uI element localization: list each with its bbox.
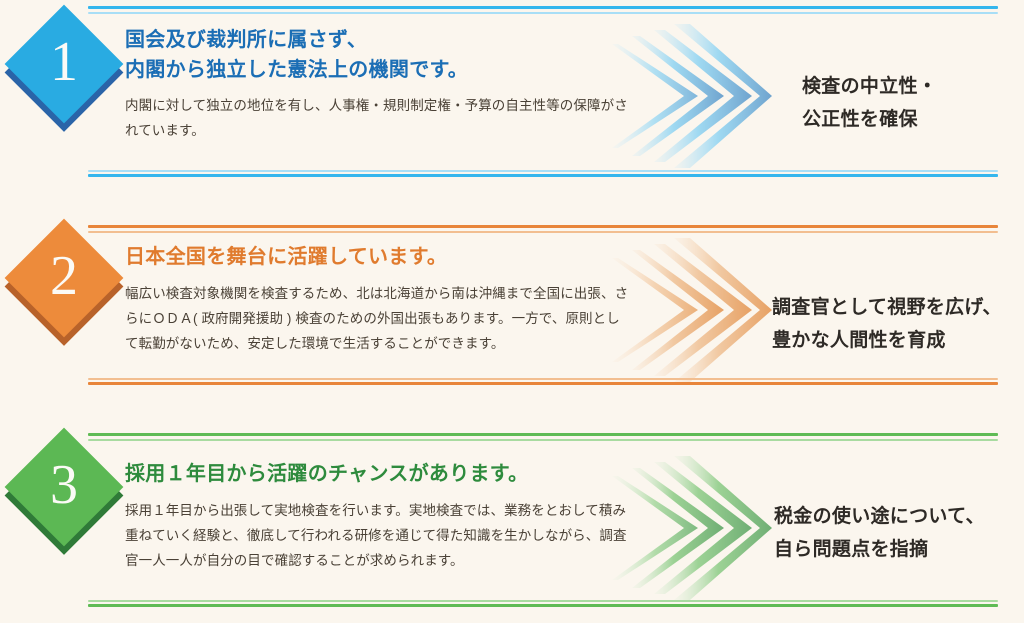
section-3-text-column: 採用１年目から活躍のチャンスがあります。 採用１年目から出張して実地検査を行いま… — [125, 460, 630, 574]
section-2-bottom-rule — [88, 378, 998, 387]
section-3-bottom-rule — [88, 600, 998, 609]
rule-thick-line — [88, 382, 998, 385]
badge-number: 2 — [22, 236, 106, 320]
section-3-body: 採用１年目から出張して実地検査を行います。実地検査では、業務をとおして積み重ねて… — [125, 499, 630, 574]
rule-thick-line — [88, 174, 998, 177]
section-1-body: 内閣に対して独立の地位を有し、人事権・規則制定権・予算の自主性等の保障がされてい… — [125, 94, 630, 144]
rule-thin-line — [88, 170, 998, 172]
rule-thin-line — [88, 231, 998, 233]
section-2-number-badge: 2 — [5, 219, 124, 338]
section-1-top-rule — [88, 6, 998, 15]
rule-thick-line — [88, 225, 998, 228]
section-1-chevron-arrow-group-icon — [612, 16, 772, 176]
section-2-top-rule — [88, 225, 998, 234]
section-1: 1 国会及び裁判所に属さず、 内閣から独立した憲法上の機関です。 内閣に対して独… — [0, 0, 1024, 200]
section-1-headline: 国会及び裁判所に属さず、 内閣から独立した憲法上の機関です。 — [125, 26, 630, 85]
rule-thin-line — [88, 600, 998, 602]
section-3-number-badge: 3 — [5, 428, 124, 547]
rule-thin-line — [88, 378, 998, 380]
badge-number: 1 — [22, 22, 106, 106]
section-2-chevron-arrow-group-icon — [612, 230, 772, 390]
section-3-headline: 採用１年目から活躍のチャンスがあります。 — [125, 460, 630, 490]
section-3-top-rule — [88, 433, 998, 442]
section-1-number-badge: 1 — [5, 5, 124, 124]
section-3-chevron-arrow-group-icon — [612, 448, 772, 608]
section-1-bottom-rule — [88, 170, 998, 179]
section-3-outcome: 税金の使い途について、 自ら問題点を指摘 — [774, 501, 985, 566]
rule-thick-line — [88, 433, 998, 436]
section-1-outcome: 検査の中立性・ 公正性を確保 — [802, 71, 937, 136]
rule-thick-line — [88, 6, 998, 9]
section-2-body: 幅広い検査対象機関を検査するため、北は北海道から南は沖縄まで全国に出張、さらにＯ… — [125, 282, 630, 357]
section-1-text-column: 国会及び裁判所に属さず、 内閣から独立した憲法上の機関です。 内閣に対して独立の… — [125, 26, 630, 144]
section-2-headline: 日本全国を舞台に活躍しています。 — [125, 243, 630, 273]
rule-thin-line — [88, 439, 998, 441]
rule-thin-line — [88, 12, 998, 14]
section-3: 3 採用１年目から活躍のチャンスがあります。 採用１年目から出張して実地検査を行… — [0, 410, 1024, 623]
section-2-outcome: 調査官として視野を広げ、 豊かな人間性を育成 — [772, 292, 1002, 357]
section-2: 2 日本全国を舞台に活躍しています。 幅広い検査対象機関を検査するため、北は北海… — [0, 200, 1024, 410]
infographic-root: 1 国会及び裁判所に属さず、 内閣から独立した憲法上の機関です。 内閣に対して独… — [0, 0, 1024, 623]
rule-thick-line — [88, 604, 998, 607]
badge-number: 3 — [22, 445, 106, 529]
section-2-text-column: 日本全国を舞台に活躍しています。 幅広い検査対象機関を検査するため、北は北海道か… — [125, 243, 630, 357]
